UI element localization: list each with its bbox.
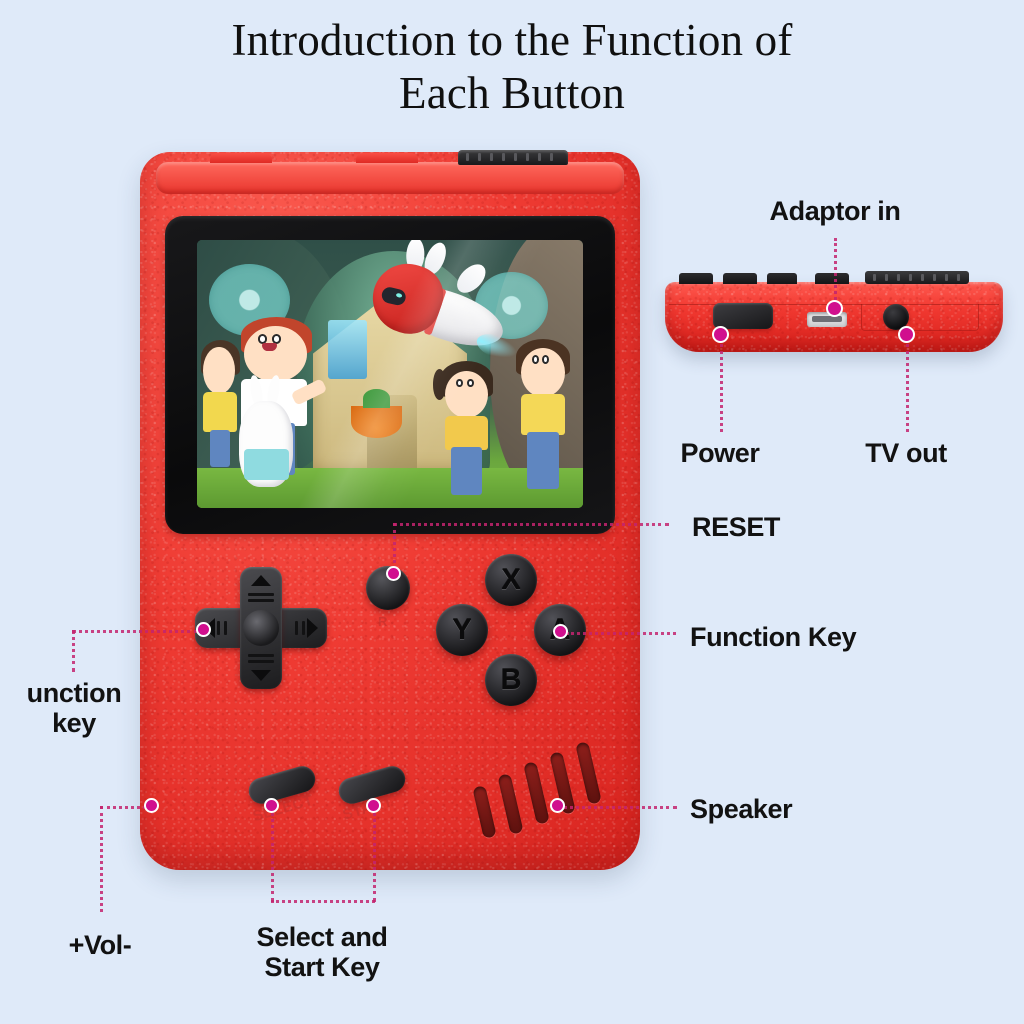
- label-adaptor-in: Adaptor in: [740, 196, 930, 226]
- title-line-2: Each Button: [0, 67, 1024, 120]
- connector-select-start-bracket: [271, 900, 375, 903]
- label-volume: +Vol-: [20, 930, 180, 960]
- console-screen: [197, 240, 583, 508]
- edge-cartridge-slot: [865, 271, 969, 284]
- connector-select-v: [271, 806, 274, 902]
- dpad-control[interactable]: [195, 567, 327, 689]
- connector-tv-out: [906, 344, 909, 432]
- infographic-canvas: Introduction to the Function of Each But…: [0, 0, 1024, 1024]
- connector-speaker: [563, 806, 677, 809]
- label-power: Power: [630, 438, 810, 468]
- dpad-down-icon[interactable]: [251, 670, 271, 681]
- connector-adaptor-in: [834, 238, 837, 306]
- marker-volume: [144, 798, 159, 813]
- micro-usb-port[interactable]: [807, 312, 847, 327]
- button-y[interactable]: Y: [436, 604, 488, 656]
- button-b[interactable]: B: [485, 654, 537, 706]
- connector-start-v: [373, 806, 376, 902]
- label-tv-out: TV out: [816, 438, 996, 468]
- button-x[interactable]: X: [485, 554, 537, 606]
- handheld-console-front-view: R X Y A B SELECT START: [140, 152, 640, 870]
- marker-tv-out: [898, 326, 915, 343]
- character-kid: [514, 342, 576, 492]
- connector-power: [720, 344, 723, 432]
- power-switch[interactable]: [713, 303, 773, 329]
- label-function-key-left: unction key: [2, 678, 146, 738]
- connector-reset-horizontal: [393, 523, 669, 526]
- label-function-key-right: Function Key: [690, 622, 856, 652]
- marker-function-key-left: [196, 622, 211, 637]
- reset-button-mark: R: [378, 614, 387, 629]
- marker-reset: [386, 566, 401, 581]
- marker-adaptor-in: [826, 300, 843, 317]
- connector-function-key-left-h: [72, 630, 198, 633]
- label-speaker: Speaker: [690, 794, 792, 824]
- marker-start: [366, 798, 381, 813]
- label-select-start: Select and Start Key: [222, 922, 422, 982]
- marker-select: [264, 798, 279, 813]
- title-line-1: Introduction to the Function of: [231, 15, 792, 65]
- marker-power: [712, 326, 729, 343]
- label-reset: RESET: [692, 512, 780, 542]
- character-kid: [436, 366, 498, 497]
- dpad-right-icon[interactable]: [307, 618, 318, 638]
- screen-game-scene: [197, 240, 583, 508]
- dpad-up-icon[interactable]: [251, 575, 271, 586]
- cartridge-slot-icon: [458, 150, 568, 165]
- connector-reset-vertical: [393, 523, 396, 569]
- connector-volume-v: [100, 806, 103, 912]
- connector-function-key-right: [566, 632, 676, 635]
- connector-volume-h: [100, 806, 146, 809]
- console-top-shoulder: [156, 162, 624, 194]
- marker-speaker: [550, 798, 565, 813]
- marker-function-key-right: [553, 624, 568, 639]
- character-rabbit: [239, 401, 293, 487]
- page-title: Introduction to the Function of Each But…: [0, 14, 1024, 120]
- speaker-grille: [476, 742, 606, 838]
- connector-function-key-left-v: [72, 630, 75, 672]
- screen-bezel: [165, 216, 615, 534]
